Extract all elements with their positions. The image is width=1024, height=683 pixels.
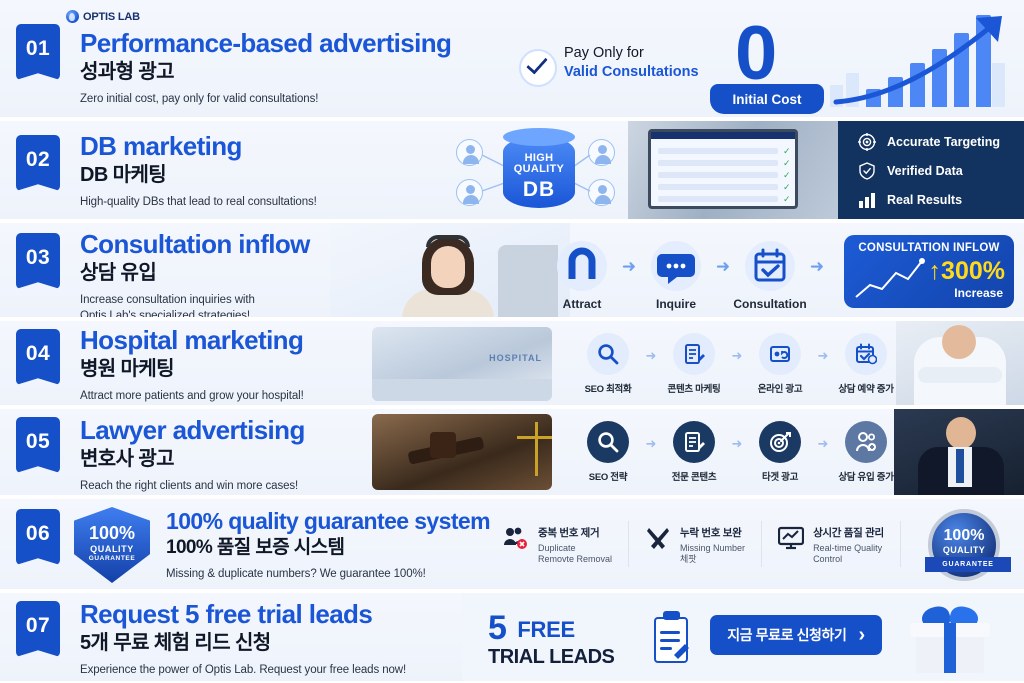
- hospital-sign-text: HOSPITAL: [489, 353, 542, 363]
- feature-label-ko: 상시간 품질 관리: [813, 527, 884, 539]
- shield-quality-label: QUALITY: [74, 544, 150, 554]
- row-text-04: Hospital marketing 병원 마케팅 Attract more p…: [80, 327, 304, 405]
- quality-feature-duplicate-removal: 중복 번호 제거 Duplicate Removte Removal: [487, 523, 628, 566]
- step-seo-optimization: SEO 최적화: [572, 333, 644, 395]
- zero-figure: 0: [735, 16, 774, 92]
- shield-percent: 100%: [74, 523, 150, 544]
- chevron-right-icon: ›: [859, 624, 865, 647]
- feature-accurate-targeting: Accurate Targeting: [858, 133, 1024, 151]
- seal-guarantee-ribbon: GUARANTEE: [925, 557, 1011, 572]
- row-text-01: Performance-based advertising 성과형 광고 Zer…: [80, 30, 451, 108]
- database-graphic: HIGH QUALITY DB: [440, 125, 635, 221]
- users-remove-icon: [503, 525, 529, 551]
- trend-arrow-icon: [826, 10, 1016, 115]
- scales-of-justice-shape: [535, 422, 538, 476]
- consultant-head: [422, 237, 474, 299]
- feature-real-results: Real Results: [858, 191, 1024, 209]
- step-content-marketing: 콘텐츠 마케팅: [658, 333, 730, 395]
- shield-check-icon: [858, 162, 876, 180]
- check-circle-icon: [519, 49, 557, 87]
- row-title-ko-05: 변호사 광고: [80, 447, 305, 472]
- bar-chart-icon: [858, 191, 876, 209]
- step-consult-inflow-increase: 상담 유입 증가: [830, 421, 902, 483]
- quality-feature-missing-number: 누락 번호 보완 Missing Number 체팟: [629, 523, 761, 566]
- feature-verified-data: Verified Data: [858, 162, 1024, 180]
- tools-icon: [645, 525, 671, 551]
- target-arrow-icon: [759, 421, 801, 463]
- step-label: 콘텐츠 마케팅: [658, 381, 730, 395]
- gavel-photo: [372, 414, 552, 490]
- section-row-05: 05 Lawyer advertising 변호사 광고 Reach the r…: [0, 409, 1024, 497]
- inflow-increase-label: Increase: [954, 286, 1003, 300]
- feature-label-ko: 중복 번호 제거: [538, 527, 599, 539]
- step-label: 상담 예약 증가: [830, 381, 902, 395]
- pay-line-2: Valid Consultations: [564, 63, 699, 82]
- row-title-ko-04: 병원 마케팅: [80, 357, 304, 382]
- search-icon: [587, 421, 629, 463]
- row-title-ko-03: 상담 유입: [80, 261, 310, 286]
- doctor-photo: [896, 321, 1024, 407]
- section-row-04: 04 Hospital marketing 병원 마케팅 Attract mor…: [0, 321, 1024, 407]
- brand-logo: OPTIS LAB: [66, 10, 140, 23]
- chat-bubble-icon: [651, 241, 701, 291]
- target-icon: [858, 133, 876, 151]
- row-number-badge-02: 02: [16, 135, 60, 191]
- hospital-step-icons: SEO 최적화 ➜ 콘텐츠 마케팅 ➜ 온라인 광고 ➜: [572, 333, 902, 395]
- flow-step-inquire: Inquire: [639, 241, 713, 311]
- step-label: 전문 콘텐츠: [658, 469, 730, 483]
- arrow-right-icon: ➜: [730, 436, 744, 452]
- section-row-07: 07 Request 5 free trial leads 5개 무료 체험 리…: [0, 593, 1024, 683]
- optis-lab-logo-icon: [66, 10, 79, 23]
- db-label-quality: QUALITY: [503, 163, 575, 175]
- monitor-chart-icon: [778, 525, 804, 551]
- row-desc-01: Zero initial cost, pay only for valid co…: [80, 92, 451, 108]
- free-label: FREE: [517, 617, 574, 643]
- big-five: 5: [488, 611, 507, 645]
- step-label: SEO 전략: [572, 469, 644, 483]
- lawyer-photo: [894, 409, 1024, 497]
- row-desc-06: Missing & duplicate numbers? We guarante…: [166, 567, 490, 583]
- step-label: 온라인 광고: [744, 381, 816, 395]
- quality-feature-list: 중복 번호 제거 Duplicate Removte Removal 누락 번호…: [487, 521, 901, 567]
- feature-label: Real Results: [887, 193, 962, 207]
- section-row-06: 06 100% QUALITY GUARANTEE 100% quality g…: [0, 499, 1024, 591]
- step-expert-content: 전문 콘텐츠: [658, 421, 730, 483]
- step-label: 상담 유입 증가: [830, 469, 902, 483]
- row-text-06: 100% quality guarantee system 100% 품질 보증…: [166, 509, 490, 582]
- row-title-en-04: Hospital marketing: [80, 327, 304, 354]
- divider: [900, 521, 901, 567]
- feature-label-ko: 누락 번호 보완: [680, 527, 741, 539]
- consultant-photo: [330, 223, 570, 319]
- pay-line-1: Pay Only for: [564, 44, 699, 63]
- row-title-ko-07: 5개 무료 체험 리드 신청: [80, 631, 406, 656]
- calendar-check-icon: [745, 241, 795, 291]
- step-appointment-increase: 상담 예약 증가: [830, 333, 902, 395]
- step-label: SEO 최적화: [572, 381, 644, 395]
- feature-label-en: Missing Number 체팟: [680, 543, 745, 566]
- trial-leads-label: TRIAL LEADS: [488, 646, 614, 669]
- db-label-db: DB: [503, 178, 575, 202]
- row-title-en-01: Performance-based advertising: [80, 30, 451, 57]
- flow-step-attract: Attract: [545, 241, 619, 311]
- row-desc-04: Attract more patients and grow your hosp…: [80, 389, 304, 405]
- step-label: 타겟 광고: [744, 469, 816, 483]
- row-text-03: Consultation inflow 상담 유입 Increase consu…: [80, 231, 310, 319]
- section-row-01: OPTIS LAB 01 Performance-based advertisi…: [0, 0, 1024, 119]
- calendar-clock-icon: [845, 333, 887, 375]
- row-desc-07: Experience the power of Optis Lab. Reque…: [80, 663, 406, 679]
- growth-chart-graphic: [826, 10, 1016, 115]
- feature-label-en: Duplicate Removte Removal: [538, 543, 612, 566]
- flow-label: Consultation: [733, 297, 807, 311]
- step-online-ads: 온라인 광고: [744, 333, 816, 395]
- row-number-badge-05: 05: [16, 417, 60, 473]
- row-text-02: DB marketing DB 마케팅 High-quality DBs tha…: [80, 133, 317, 211]
- seal-percent: 100%: [932, 527, 996, 545]
- quality-shield-badge: 100% QUALITY GUARANTEE: [74, 507, 150, 583]
- row-text-05: Lawyer advertising 변호사 광고 Reach the righ…: [80, 417, 305, 495]
- row-number-badge-06: 06: [16, 509, 60, 565]
- step-target-ads: 타겟 광고: [744, 421, 816, 483]
- five-free-trial-leads: 5 FREE TRIAL LEADS: [488, 611, 614, 669]
- infographic-page: OPTIS LAB 01 Performance-based advertisi…: [0, 0, 1024, 683]
- document-edit-icon: [673, 333, 715, 375]
- headset-icon: [426, 235, 470, 247]
- magnet-icon: [557, 241, 607, 291]
- row-title-ko-02: DB 마케팅: [80, 163, 317, 188]
- quality-feature-realtime-control: 상시간 품질 관리 Real-time Quality Control: [762, 523, 900, 566]
- row-number-badge-07: 07: [16, 601, 60, 657]
- cta-panel: 5 FREE TRIAL LEADS 지금 무료로 신청하기 ›: [462, 593, 1024, 683]
- gift-box-icon: [906, 605, 994, 675]
- section-row-02: 02 DB marketing DB 마케팅 High-quality DBs …: [0, 121, 1024, 221]
- step-seo-strategy: SEO 전략: [572, 421, 644, 483]
- pay-only-callout: Pay Only for Valid Consultations: [564, 44, 699, 82]
- row-number-badge-04: 04: [16, 329, 60, 385]
- seal-quality-label: QUALITY: [932, 545, 996, 555]
- request-free-trial-button[interactable]: 지금 무료로 신청하기 ›: [710, 615, 882, 655]
- add-user-icon: [845, 421, 887, 463]
- arrow-right-icon: ➜: [619, 257, 639, 277]
- search-icon: [587, 333, 629, 375]
- brand-name: OPTIS LAB: [83, 11, 140, 23]
- arrow-right-icon: ➜: [644, 436, 658, 452]
- initial-cost-pill: Initial Cost: [710, 84, 824, 114]
- row-desc-02: High-quality DBs that lead to real consu…: [80, 195, 317, 211]
- row-title-en-03: Consultation inflow: [80, 231, 310, 258]
- consultation-flow: Attract ➜ Inquire ➜ Consultation ➜: [545, 241, 827, 311]
- row-number-badge-03: 03: [16, 233, 60, 289]
- arrow-right-icon: ➜: [644, 348, 658, 364]
- laptop-photo: ✓ ✓ ✓ ✓ ✓: [628, 121, 860, 221]
- row-number-badge-01: 01: [16, 24, 60, 80]
- inflow-card-title: CONSULTATION INFLOW: [854, 242, 1004, 254]
- row-title-en-02: DB marketing: [80, 133, 317, 160]
- row-title-ko-06: 100% 품질 보증 시스템: [166, 536, 490, 560]
- row-title-en-06: 100% quality guarantee system: [166, 509, 490, 533]
- cta-label: 지금 무료로 신청하기: [727, 625, 846, 645]
- quality-guarantee-seal: 100% QUALITY GUARANTEE: [928, 509, 1000, 581]
- arrow-right-icon: ➜: [816, 348, 830, 364]
- inflow-result-card: CONSULTATION INFLOW ↑300% Increase: [844, 235, 1014, 308]
- row-desc-03: Increase consultation inquiries with Opt…: [80, 293, 310, 319]
- arrow-right-icon: ➜: [713, 257, 733, 277]
- clipboard-icon: [650, 611, 694, 665]
- db-feature-list: Accurate Targeting Verified Data Real Re…: [838, 121, 1024, 221]
- arrow-right-icon: ➜: [807, 257, 827, 277]
- flow-step-consultation: Consultation: [733, 241, 807, 311]
- laptop-screen: ✓ ✓ ✓ ✓ ✓: [648, 129, 798, 209]
- db-cylinder-icon: HIGH QUALITY DB: [503, 136, 575, 208]
- section-row-03: 03 Consultation inflow 상담 유입 Increase co…: [0, 223, 1024, 319]
- flow-label: Inquire: [639, 297, 713, 311]
- arrow-right-icon: ➜: [730, 348, 744, 364]
- feature-label: Accurate Targeting: [887, 135, 1000, 149]
- row-title-en-05: Lawyer advertising: [80, 417, 305, 444]
- shield-guarantee-label: GUARANTEE: [74, 555, 150, 562]
- row-title-en-07: Request 5 free trial leads: [80, 601, 406, 628]
- lawyer-step-icons: SEO 전략 ➜ 전문 콘텐츠 ➜ 타겟 광고 ➜ 상담: [572, 421, 902, 483]
- inflow-percent: ↑300%: [929, 259, 1005, 284]
- ad-banner-icon: [759, 333, 801, 375]
- arrow-right-icon: ➜: [816, 436, 830, 452]
- feature-label-en: Real-time Quality Control: [813, 543, 884, 566]
- feature-label: Verified Data: [887, 164, 963, 178]
- document-edit-icon: [673, 421, 715, 463]
- hospital-lobby-photo: HOSPITAL: [372, 327, 552, 401]
- row-title-ko-01: 성과형 광고: [80, 60, 451, 85]
- flow-label: Attract: [545, 297, 619, 311]
- row-text-07: Request 5 free trial leads 5개 무료 체험 리드 신…: [80, 601, 406, 679]
- reception-desk: [372, 379, 552, 401]
- row-desc-05: Reach the right clients and win more cas…: [80, 479, 305, 495]
- line-chart-icon: [852, 255, 930, 303]
- gavel-head-shape: [430, 432, 456, 458]
